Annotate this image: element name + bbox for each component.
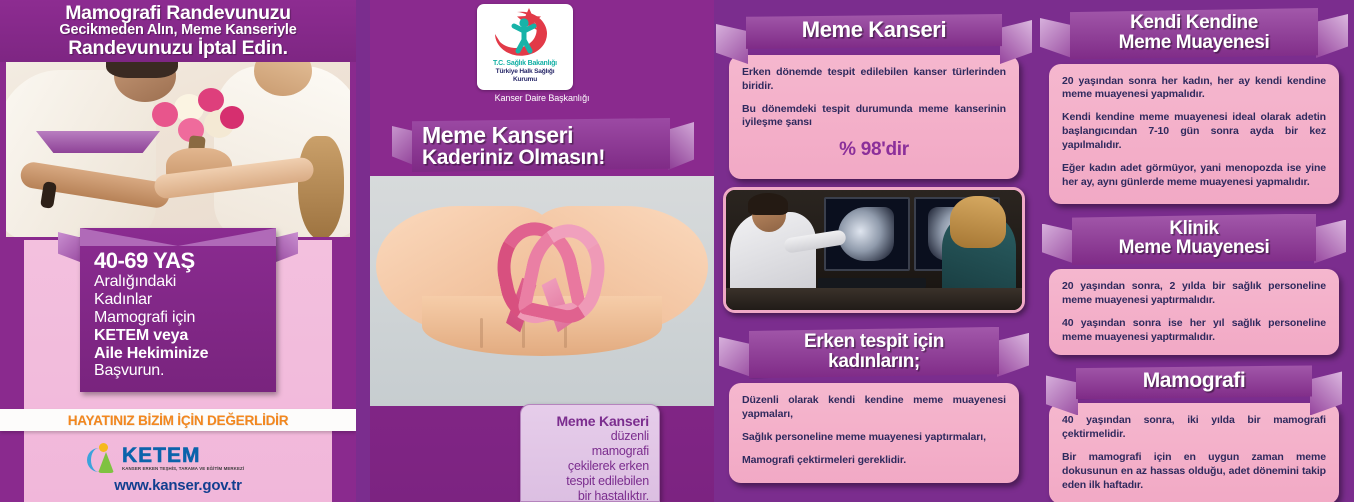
photo-shape-doctor-hair	[748, 193, 788, 215]
ministry-emblem-icon	[477, 4, 573, 60]
header-wing-left	[1040, 18, 1072, 58]
ketem-figure-icon	[86, 442, 118, 474]
left-headline-block: Mamografi Randevunuzu Gecikmeden Alın, M…	[0, 0, 356, 62]
center-card-line-4: bir hastalıktır.	[531, 489, 649, 502]
card-paragraph-1: Bu dönemdeki tespit durumunda meme kanse…	[742, 103, 1006, 131]
ministry-department-caption: Kanser Daire Başkanlığı	[370, 93, 714, 103]
card-paragraph-1: Kendi kendine meme muayenesi ideal olara…	[1062, 111, 1326, 153]
mammogram-image-left	[838, 207, 894, 261]
center-panel: T.C. Sağlık Bakanlığı Türkiye Halk Sağlı…	[370, 0, 714, 502]
header-wing-right	[1314, 220, 1346, 264]
clinical-exam-card-header: Klinik Meme Muayenesi	[1072, 214, 1316, 266]
header-plate: Kendi Kendine Meme Muayenesi	[1070, 8, 1318, 60]
photo-shape-woman-hair	[298, 136, 344, 237]
card-title-line-2: kadınların;	[763, 352, 985, 372]
card-paragraph-2: Mamografi çektirmeleri gereklidir.	[742, 454, 1006, 468]
hands-ribbon-photo	[370, 176, 714, 406]
banner-line-0: Aralığındaki	[94, 273, 266, 291]
column-three: Meme Kanseri Erken dönemde tespit edileb…	[714, 0, 1034, 502]
center-bottom-card: Meme Kanseri düzenli mamografi çekilerek…	[520, 404, 660, 502]
center-card-line-0: düzenli	[531, 429, 649, 444]
headline-line-1: Mamografi Randevunuzu	[65, 4, 291, 24]
ministry-of-health-logo: T.C. Sağlık Bakanlığı Türkiye Halk Sağlı…	[477, 4, 573, 90]
card-title-line-1: Mamografi	[1090, 370, 1298, 392]
center-title-line-2: Kaderiniz Olmasın!	[422, 147, 660, 168]
slogan-band: HAYATINIZ BİZİM İÇİN DEĞERLİDİR	[0, 409, 356, 431]
website-url[interactable]: www.kanser.gov.tr	[0, 477, 356, 494]
center-card-line-2: çekilerek erken	[531, 459, 649, 474]
ministry-line-1: T.C. Sağlık Bakanlığı	[477, 60, 573, 67]
breast-cancer-awareness-poster: Mamografi Randevunuzu Gecikmeden Alın, M…	[0, 0, 1354, 502]
card-paragraph-0: Düzenli olarak kendi kendine meme muayen…	[742, 394, 1006, 422]
survival-rate-highlight: % 98'dir	[742, 139, 1006, 161]
photo-shape-patient-hair	[950, 196, 1006, 248]
early-detection-card-header: Erken tespit için kadınların;	[749, 327, 999, 379]
banner-line-1: Kadınlar	[94, 291, 266, 309]
header-plate: Mamografi	[1076, 365, 1312, 399]
photo-shape-man-hair	[106, 62, 178, 78]
ketem-subtitle: KANSER ERKEN TEŞHİS, TARAMA VE EĞİTİM ME…	[122, 467, 244, 471]
ketem-logotype: KETEM KANSER ERKEN TEŞHİS, TARAMA VE EĞİ…	[122, 445, 244, 471]
ministry-line-2: Türkiye Halk Sağlığı Kurumu	[477, 68, 573, 84]
flower-pink-1	[152, 102, 178, 127]
card-paragraph-1: Sağlık personeline meme muayenesi yaptır…	[742, 431, 1006, 445]
mammography-card-header: Mamografi	[1076, 365, 1312, 399]
card-paragraph-1: Bir mamografi için en uygun zaman meme d…	[1062, 451, 1326, 493]
center-title-line-1: Meme Kanseri	[422, 124, 660, 147]
card-paragraph-2: Eğer kadın adet görmüyor, yani menopozda…	[1062, 162, 1326, 190]
clinical-exam-card: 20 yaşından sonra, 2 yılda bir sağlık pe…	[1049, 269, 1339, 355]
header-wing-right	[1000, 20, 1032, 64]
card-paragraph-1: 40 yaşından sonra ise her yıl sağlık per…	[1062, 317, 1326, 345]
card-paragraph-0: 20 yaşından sonra her kadın, her ay kend…	[1062, 75, 1326, 103]
card-title-line-1: Kendi Kendine	[1084, 13, 1304, 33]
left-info-banner: 40-69 YAŞ Aralığındaki Kadınlar Mamograf…	[80, 228, 276, 392]
left-banner-plate: 40-69 YAŞ Aralığındaki Kadınlar Mamograf…	[80, 228, 276, 392]
ketem-name: KETEM	[122, 445, 244, 466]
header-wing-right	[1316, 14, 1348, 58]
card-title-line-2: Meme Muayenesi	[1084, 33, 1304, 53]
breast-cancer-card-header: Meme Kanseri	[746, 14, 1002, 49]
header-plate: Erken tespit için kadınların;	[749, 327, 999, 379]
banner-line-5: Başvurun.	[94, 362, 266, 380]
column-four: Kendi Kendine Meme Muayenesi 20 yaşından…	[1034, 0, 1354, 502]
header-wing-right	[997, 333, 1029, 377]
banner-line-3: KETEM veya	[94, 327, 266, 345]
card-paragraph-0: Erken dönemde tespit edilebilen kanser t…	[742, 66, 1006, 94]
header-plate: Klinik Meme Muayenesi	[1072, 214, 1316, 266]
card-paragraph-0: 20 yaşından sonra, 2 yılda bir sağlık pe…	[1062, 280, 1326, 308]
mammography-card: 40 yaşından sonra, iki yılda bir mamogra…	[1049, 403, 1339, 502]
banner-line-2: Mamografi için	[94, 309, 266, 327]
left-banner-fold	[36, 131, 160, 153]
photo-shape-desk	[726, 288, 1022, 310]
mammogram-consultation-photo	[723, 187, 1025, 313]
photo-shape-keyboard	[818, 278, 926, 288]
headline-line-3: Randevunuzu İptal Edin.	[68, 39, 288, 59]
card-title-line-1: Klinik	[1086, 219, 1302, 239]
self-exam-card: 20 yaşından sonra her kadın, her ay kend…	[1049, 64, 1339, 204]
center-title-wing-right	[668, 122, 694, 170]
center-card-line-3: tespit edilebilen	[531, 474, 649, 489]
self-exam-card-header: Kendi Kendine Meme Muayenesi	[1070, 8, 1318, 60]
breast-cancer-card: Erken dönemde tespit edilebilen kanser t…	[729, 55, 1019, 179]
card-paragraph-0: 40 yaşından sonra, iki yılda bir mamogra…	[1062, 414, 1326, 442]
card-title-line-1: Erken tespit için	[763, 332, 985, 352]
header-plate: Meme Kanseri	[746, 14, 1002, 49]
card-title-line-1: Meme Kanseri	[760, 19, 988, 42]
pink-awareness-ribbon-icon	[488, 222, 596, 332]
flower-pink-2	[198, 88, 224, 112]
center-card-line-1: mamografi	[531, 444, 649, 459]
age-range-text: 40-69 YAŞ	[94, 250, 266, 273]
card-title-line-2: Meme Muayenesi	[1086, 238, 1302, 258]
header-wing-left	[716, 24, 748, 64]
banner-line-4: Aile Hekiminize	[94, 345, 266, 363]
early-detection-card: Düzenli olarak kendi kendine meme muayen…	[729, 383, 1019, 483]
left-panel: Mamografi Randevunuzu Gecikmeden Alın, M…	[0, 0, 356, 502]
center-title-banner: Meme Kanseri Kaderiniz Olmasın!	[392, 118, 692, 180]
ketem-logo: KETEM KANSER ERKEN TEŞHİS, TARAMA VE EĞİ…	[86, 440, 276, 476]
center-title-plate: Meme Kanseri Kaderiniz Olmasın!	[412, 118, 670, 172]
header-wing-left	[719, 337, 751, 377]
flower-pink-4	[220, 106, 244, 129]
center-card-heading: Meme Kanseri	[531, 413, 649, 429]
header-wing-left	[1042, 224, 1074, 264]
slogan-text: HAYATINIZ BİZİM İÇİN DEĞERLİDİR	[68, 413, 289, 428]
finger-gap-1	[480, 318, 483, 348]
